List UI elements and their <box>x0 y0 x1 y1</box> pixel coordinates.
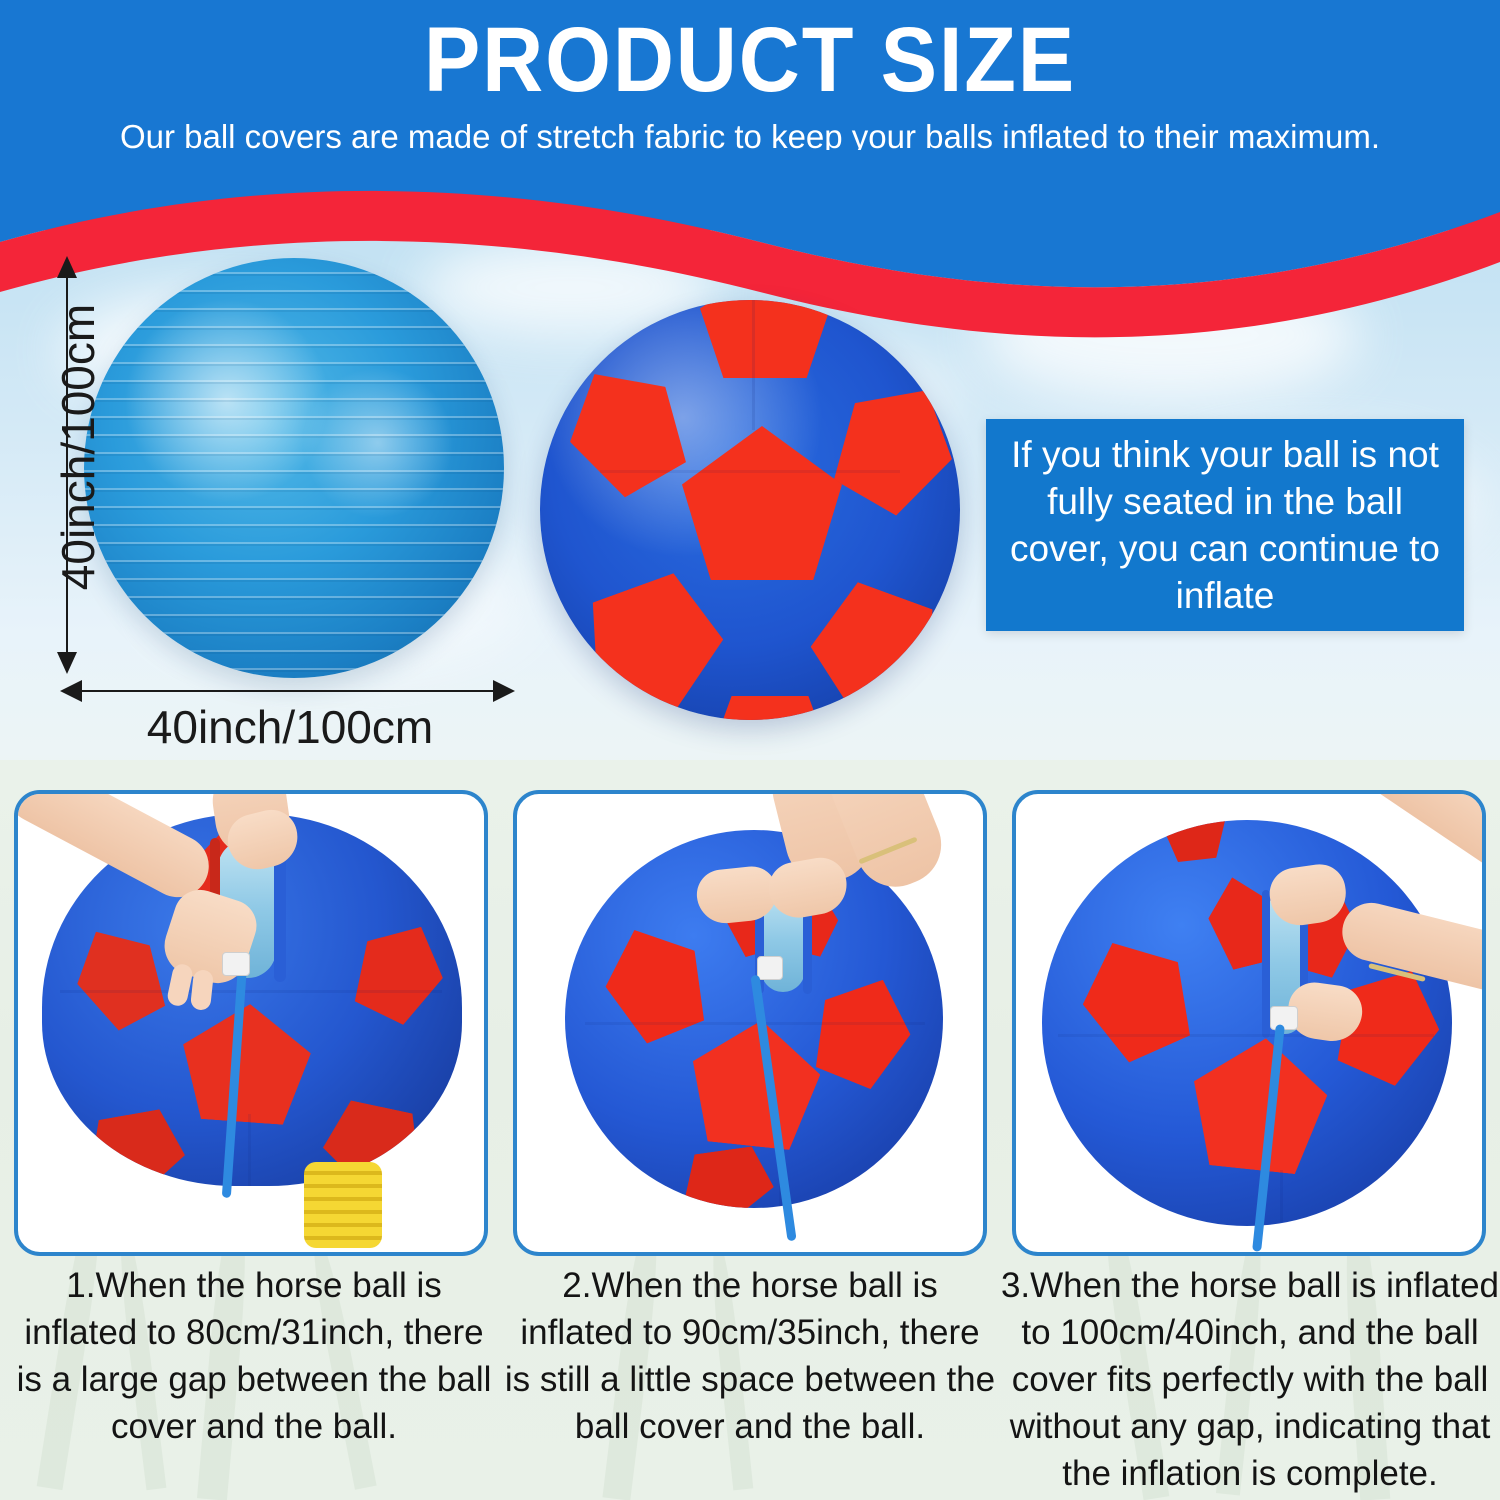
page-title: PRODUCT SIZE <box>60 10 1440 110</box>
height-dimension-label: 40inch/100cm <box>51 247 105 647</box>
step-caption-2: 2.When the horse ball is inflated to 90c… <box>504 1262 996 1450</box>
callout-text: If you think your ball is not fully seat… <box>986 431 1464 619</box>
exercise-ball-ribs <box>84 258 504 678</box>
ball-cover-image <box>540 300 960 720</box>
foot-pump <box>304 1162 382 1248</box>
step-panel-2 <box>513 790 987 1256</box>
dimension-arrow-horizontal-line <box>80 690 495 692</box>
step-panel-3 <box>1012 790 1486 1256</box>
product-size-infographic: PRODUCT SIZE Our ball covers are made of… <box>0 0 1500 1500</box>
step-panel-1 <box>14 790 488 1256</box>
dimension-arrow-left-head <box>60 680 82 702</box>
dimension-arrow-right-head <box>493 680 515 702</box>
exercise-ball-image <box>84 258 504 678</box>
width-dimension-label: 40inch/100cm <box>60 700 520 754</box>
step-panels <box>0 790 1500 1260</box>
callout-box: If you think your ball is not fully seat… <box>986 419 1464 631</box>
pump-nozzle <box>222 952 250 976</box>
pump-nozzle <box>757 956 783 980</box>
step-captions: 1.When the horse ball is inflated to 80c… <box>0 1262 1500 1500</box>
dimension-arrow-down-head <box>57 652 77 674</box>
step-caption-3: 3.When the horse ball is inflated to 100… <box>1000 1262 1500 1497</box>
step-caption-1: 1.When the horse ball is inflated to 80c… <box>8 1262 500 1450</box>
